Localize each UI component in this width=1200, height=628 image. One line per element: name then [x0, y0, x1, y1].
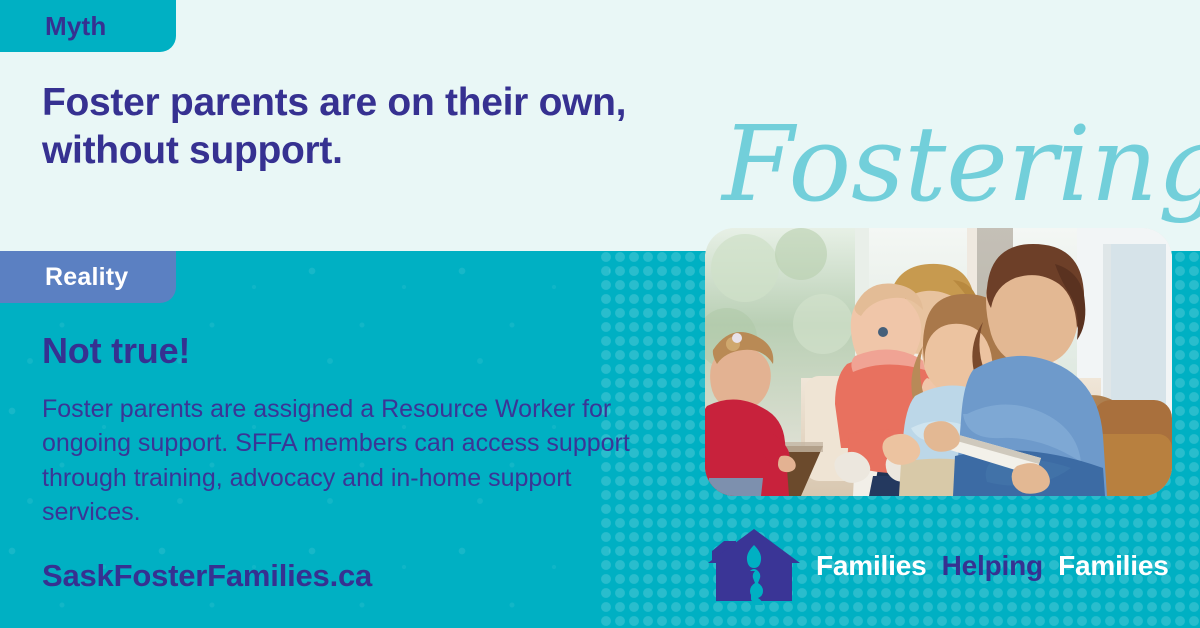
- family-photo: [705, 228, 1172, 496]
- website-url[interactable]: SaskFosterFamilies.ca: [42, 558, 372, 594]
- house-with-candle-icon: [706, 527, 802, 605]
- reality-body: Foster parents are assigned a Resource W…: [42, 392, 657, 529]
- poster-canvas: Myth Foster parents are on their own, wi…: [0, 0, 1200, 628]
- reality-title: Not true!: [42, 330, 190, 372]
- reality-badge: Reality: [0, 251, 176, 303]
- logo-word-families-1: Families: [816, 550, 926, 581]
- myth-heading: Foster parents are on their own, without…: [42, 79, 642, 174]
- logo-word-families-2: Families: [1058, 550, 1168, 581]
- myth-badge-label: Myth: [45, 11, 106, 42]
- myth-badge: Myth: [0, 0, 176, 52]
- reality-badge-label: Reality: [45, 263, 128, 292]
- organization-logo: Families Helping Families: [706, 527, 1169, 605]
- logo-wordmark: Families Helping Families: [816, 550, 1169, 582]
- logo-word-helping: Helping: [942, 550, 1043, 581]
